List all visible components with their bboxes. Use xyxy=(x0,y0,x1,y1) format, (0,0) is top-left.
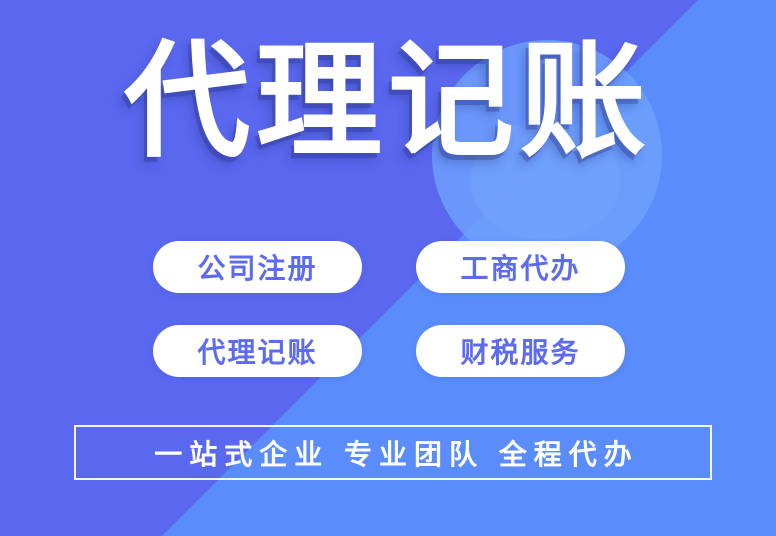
poster-content: 代理记账 公司注册 工商代办 代理记账 财税服务 一站式企业 专业团队 全程代办 xyxy=(0,0,776,536)
tagline-banner: 一站式企业 专业团队 全程代办 xyxy=(74,425,712,480)
service-pill-grid: 公司注册 工商代办 代理记账 财税服务 xyxy=(153,241,625,377)
service-pill-company-registration[interactable]: 公司注册 xyxy=(153,241,362,293)
service-pill-bookkeeping[interactable]: 代理记账 xyxy=(153,325,362,377)
promo-poster: 代理记账 公司注册 工商代办 代理记账 财税服务 一站式企业 专业团队 全程代办 xyxy=(0,0,776,536)
tagline-banner-text: 一站式企业 专业团队 全程代办 xyxy=(147,433,639,473)
service-pill-business-agency[interactable]: 工商代办 xyxy=(416,241,625,293)
service-pill-tax-service[interactable]: 财税服务 xyxy=(416,325,625,377)
poster-title: 代理记账 xyxy=(0,36,776,168)
